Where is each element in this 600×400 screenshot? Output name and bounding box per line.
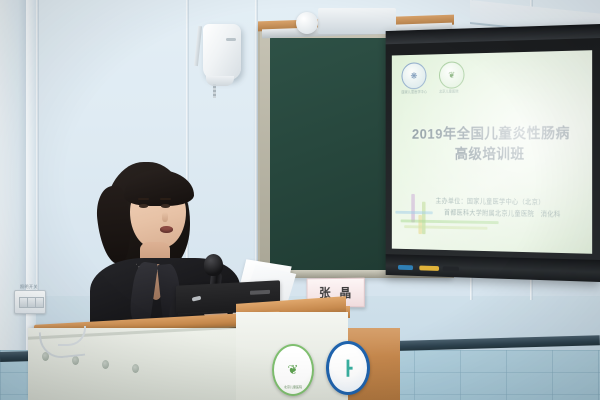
speaker-cord	[213, 84, 216, 98]
marker-yellow	[419, 266, 439, 271]
presenter-mouth	[160, 226, 173, 233]
slide-decoration	[395, 194, 504, 238]
laptop-latch	[192, 296, 202, 302]
deco-bar-vertical	[422, 202, 426, 235]
marker-blue	[398, 265, 413, 270]
slide-title-line2: 高级培训班	[392, 145, 592, 166]
ceiling-projector	[318, 8, 396, 34]
speaker-base	[206, 76, 234, 86]
slide-logo-row: ❋ 国家儿童医学中心 ❦ 北京儿童医院	[402, 61, 465, 89]
light-switch-panel[interactable]	[14, 290, 46, 314]
wall-speaker	[203, 24, 241, 80]
projector-mount-knob	[296, 12, 318, 34]
laptop-brand-logo	[250, 290, 270, 295]
projection-screen: ❋ 国家儿童医学中心 ❦ 北京儿童医院 2019年全国儿童炎性肠病 高级培训班 …	[386, 24, 600, 282]
deco-bar-vertical	[411, 194, 415, 223]
institute-emblem-blue: ┣	[326, 341, 370, 395]
emblem-glyph: ┣	[344, 360, 352, 377]
logo-glyph: ❋	[411, 71, 418, 82]
beijing-childrens-hospital-logo: ❦	[439, 61, 464, 88]
speaker-vent	[226, 38, 236, 41]
slide-title-line1: 2019年全国儿童炎性肠病	[392, 124, 592, 145]
presenter-eye	[161, 204, 170, 208]
presenter-brow	[138, 198, 149, 200]
marker-dark	[443, 266, 459, 271]
podium-screw	[132, 364, 139, 373]
logo-caption: 北京儿童医院	[439, 88, 459, 93]
emblem-glyph: ❦	[288, 362, 299, 378]
handheld-microphone	[204, 254, 223, 276]
podium-screw	[102, 360, 109, 369]
logo-glyph: ❦	[448, 70, 455, 81]
emblem-caption: 北京儿童医院	[274, 385, 312, 389]
hospital-emblem-green: ❦ 北京儿童医院	[272, 344, 314, 396]
deco-bar-horizontal	[404, 225, 487, 230]
presenter-eye	[139, 204, 148, 208]
wall-seam	[36, 0, 39, 300]
slide-surface: ❋ 国家儿童医学中心 ❦ 北京儿童医院 2019年全国儿童炎性肠病 高级培训班 …	[392, 50, 592, 254]
presenter-nose	[162, 212, 168, 222]
lecture-hall-photo: 照明开关 ❋ 国家儿童医学中心	[0, 0, 600, 400]
deco-bar-horizontal	[395, 211, 432, 214]
logo-caption: 国家儿童医学中心	[402, 89, 428, 94]
national-center-childrens-health-logo: ❋	[402, 62, 427, 89]
slide-title: 2019年全国儿童炎性肠病 高级培训班	[392, 124, 592, 165]
podium-screw	[72, 356, 79, 365]
deco-bar-horizontal	[401, 219, 499, 224]
switch-button[interactable]	[35, 297, 44, 308]
presenter-brow	[160, 198, 171, 200]
presenter-fringe	[124, 170, 194, 206]
